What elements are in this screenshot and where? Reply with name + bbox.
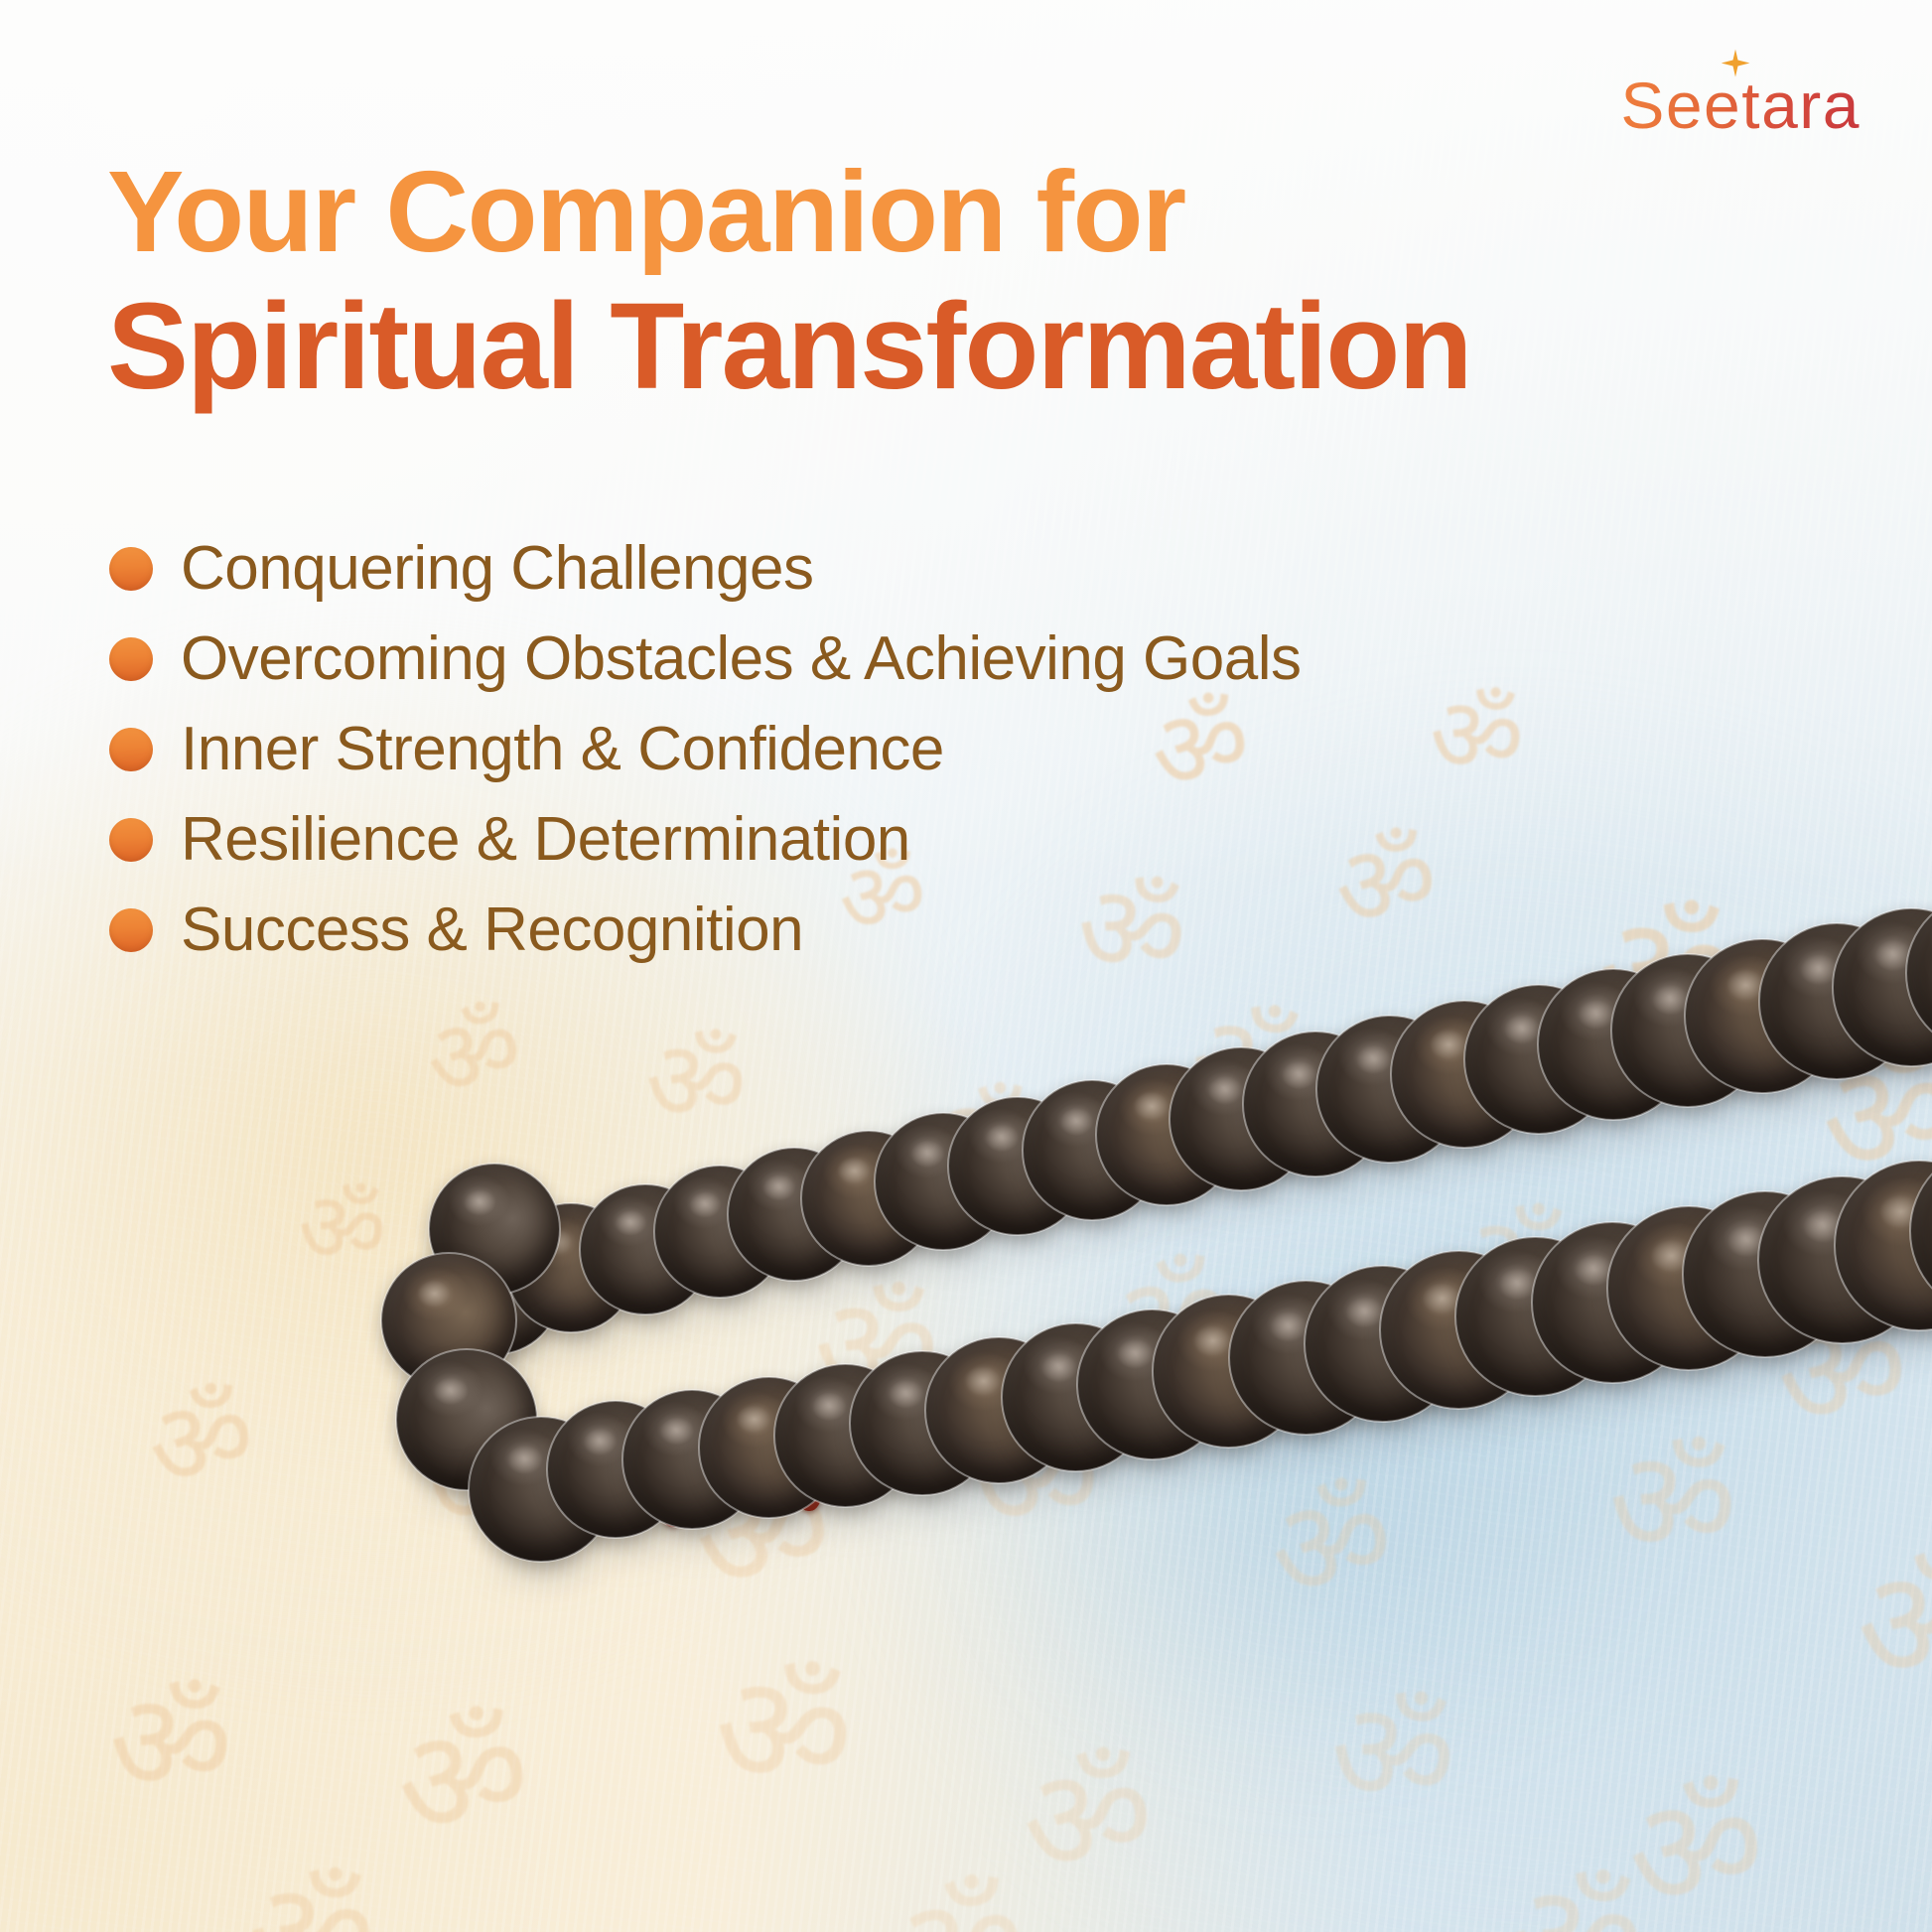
brand-logo[interactable]: Seetara — [1620, 58, 1861, 143]
poster-canvas: ॐॐॐॐॐॐॐॐॐॐॐॐॐॐॐॐॐॐॐॐॐॐॐॐॐॐॐॐॐॐॐॐॐ Seetar… — [0, 0, 1932, 1932]
sparkle-star-icon — [1721, 49, 1750, 78]
bullet-dot-icon — [109, 728, 153, 771]
bullet-dot-icon — [109, 547, 153, 591]
benefit-label: Inner Strength & Confidence — [181, 714, 944, 784]
benefit-label: Success & Recognition — [181, 895, 803, 965]
bullet-dot-icon — [109, 818, 153, 862]
benefit-item: Conquering Challenges — [109, 523, 1658, 614]
benefit-item: Inner Strength & Confidence — [109, 704, 1658, 794]
headline-block: Your Companion for Spiritual Transformat… — [107, 154, 1696, 411]
bullet-dot-icon — [109, 637, 153, 681]
benefit-label: Overcoming Obstacles & Achieving Goals — [181, 623, 1302, 694]
benefit-item: Resilience & Determination — [109, 794, 1658, 885]
benefit-item: Overcoming Obstacles & Achieving Goals — [109, 614, 1658, 704]
benefit-label: Resilience & Determination — [181, 804, 910, 875]
benefit-label: Conquering Challenges — [181, 533, 814, 604]
brand-name: Seetara — [1620, 68, 1861, 143]
benefit-item: Success & Recognition — [109, 885, 1658, 975]
bullet-dot-icon — [109, 908, 153, 952]
headline-line-1: Your Companion for — [107, 154, 1696, 269]
benefits-list: Conquering ChallengesOvercoming Obstacle… — [109, 523, 1658, 975]
headline-line-2: Spiritual Transformation — [107, 283, 1696, 411]
